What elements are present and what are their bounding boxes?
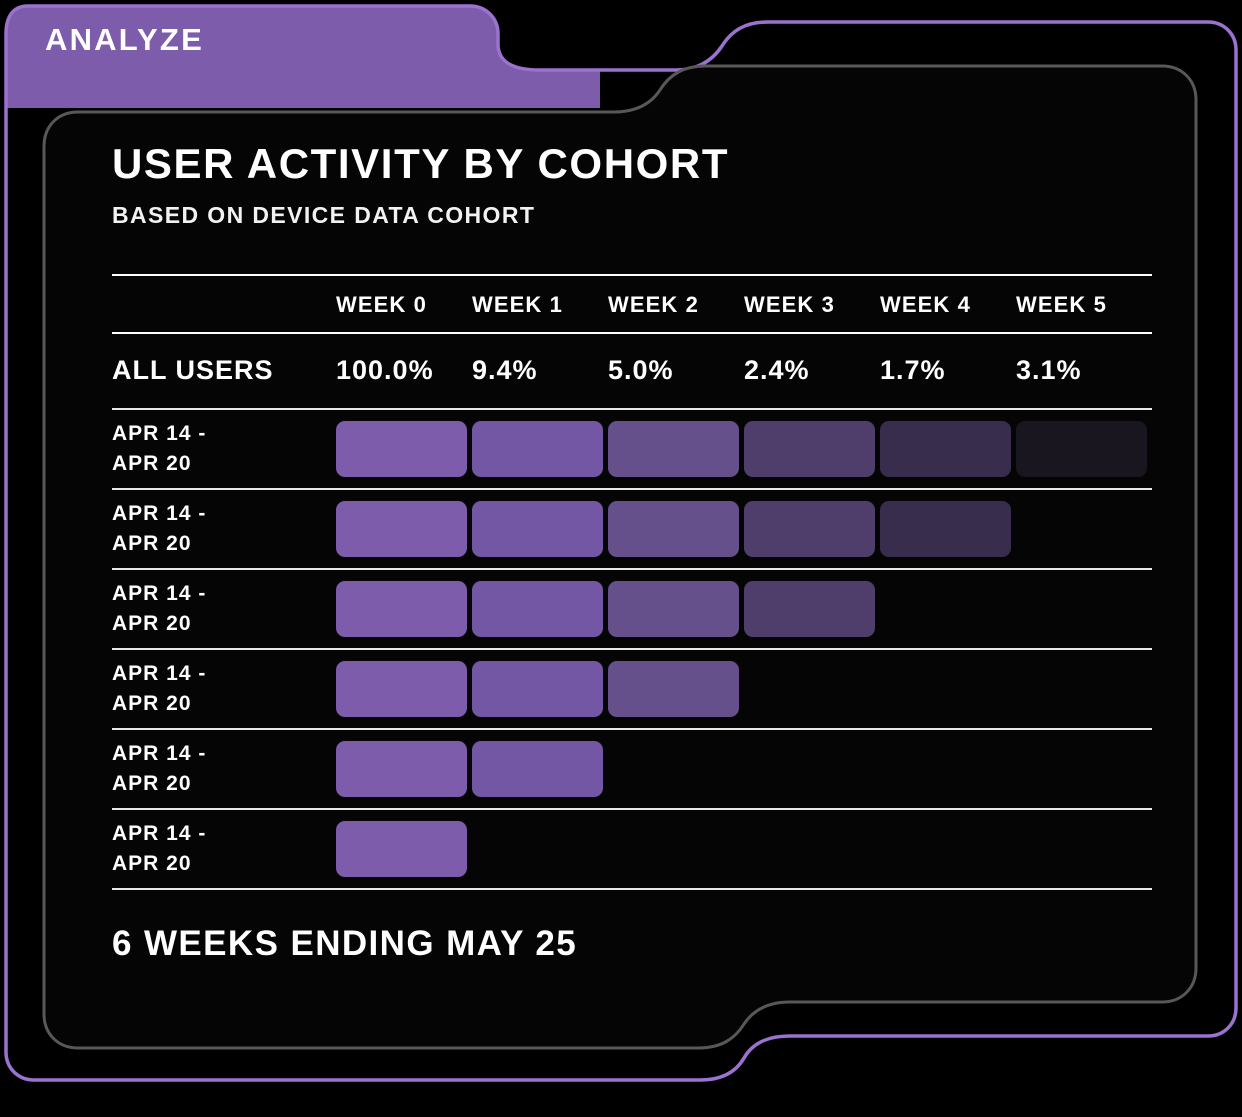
cohort-label-line-1: APR 14 -: [112, 662, 206, 685]
cohort-row-label: APR 14 - APR 20: [112, 729, 336, 809]
cohort-cell[interactable]: [336, 809, 472, 889]
cohort-retention-table: WEEK 0 WEEK 1 WEEK 2 WEEK 3 WEEK 4 WEEK …: [112, 274, 1152, 890]
cohort-cell[interactable]: [472, 649, 608, 729]
cohort-cell[interactable]: [880, 489, 1016, 569]
cohort-cell: [744, 809, 880, 889]
cohort-cell: [608, 809, 744, 889]
cohort-cell[interactable]: [472, 489, 608, 569]
table-row[interactable]: APR 14 - APR 20: [112, 729, 1152, 809]
summary-value-week-2: 5.0%: [608, 333, 744, 409]
cohort-row-label: APR 14 - APR 20: [112, 649, 336, 729]
cohort-cell[interactable]: [608, 489, 744, 569]
column-header-week-2[interactable]: WEEK 2: [608, 275, 744, 333]
summary-value-week-0: 100.0%: [336, 333, 472, 409]
cohort-cell: [1016, 569, 1152, 649]
table-footer-note: 6 WEEKS ENDING MAY 25: [112, 924, 1152, 964]
cohort-cell: [1016, 649, 1152, 729]
summary-value-week-4: 1.7%: [880, 333, 1016, 409]
table-corner-header: [112, 275, 336, 333]
cohort-cell: [744, 649, 880, 729]
column-header-week-4[interactable]: WEEK 4: [880, 275, 1016, 333]
cohort-cell: [880, 809, 1016, 889]
cohort-label-line-2: APR 20: [112, 532, 192, 555]
cohort-cell: [1016, 809, 1152, 889]
cohort-cell: [472, 809, 608, 889]
table-row[interactable]: APR 14 - APR 20: [112, 409, 1152, 489]
cohort-label-line-2: APR 20: [112, 452, 192, 475]
column-header-week-1[interactable]: WEEK 1: [472, 275, 608, 333]
cohort-cell[interactable]: [880, 409, 1016, 489]
cohort-cell[interactable]: [608, 569, 744, 649]
panel-content: USER ACTIVITY BY COHORT BASED ON DEVICE …: [112, 143, 1152, 964]
cohort-label-line-1: APR 14 -: [112, 422, 206, 445]
cohort-cell: [744, 729, 880, 809]
cohort-cell[interactable]: [336, 649, 472, 729]
cohort-cell: [1016, 489, 1152, 569]
cohort-row-label: APR 14 - APR 20: [112, 409, 336, 489]
tab-label-analyze[interactable]: ANALYZE: [45, 22, 204, 58]
cohort-cell: [608, 729, 744, 809]
summary-value-week-3: 2.4%: [744, 333, 880, 409]
table-row[interactable]: APR 14 - APR 20: [112, 489, 1152, 569]
table-header-row: WEEK 0 WEEK 1 WEEK 2 WEEK 3 WEEK 4 WEEK …: [112, 275, 1152, 333]
cohort-cell[interactable]: [472, 409, 608, 489]
summary-row-label: ALL USERS: [112, 333, 336, 409]
cohort-cell[interactable]: [1016, 409, 1152, 489]
table-body: ALL USERS 100.0% 9.4% 5.0% 2.4% 1.7% 3.1…: [112, 333, 1152, 889]
cohort-cell[interactable]: [336, 409, 472, 489]
cohort-row-label: APR 14 - APR 20: [112, 489, 336, 569]
summary-value-week-1: 9.4%: [472, 333, 608, 409]
cohort-label-line-1: APR 14 -: [112, 582, 206, 605]
cohort-cell: [880, 569, 1016, 649]
cohort-label-line-2: APR 20: [112, 772, 192, 795]
column-header-week-0[interactable]: WEEK 0: [336, 275, 472, 333]
cohort-label-line-2: APR 20: [112, 852, 192, 875]
cohort-cell[interactable]: [608, 649, 744, 729]
cohort-row-label: APR 14 - APR 20: [112, 809, 336, 889]
cohort-cell: [1016, 729, 1152, 809]
cohort-label-line-1: APR 14 -: [112, 742, 206, 765]
analyze-cohort-screen: ANALYZE USER ACTIVITY BY COHORT BASED ON…: [0, 0, 1242, 1117]
cohort-cell[interactable]: [608, 409, 744, 489]
table-row[interactable]: APR 14 - APR 20: [112, 569, 1152, 649]
cohort-cell: [880, 649, 1016, 729]
page-subtitle: BASED ON DEVICE DATA COHORT: [112, 202, 1152, 229]
cohort-cell[interactable]: [336, 729, 472, 809]
cohort-row-label: APR 14 - APR 20: [112, 569, 336, 649]
cohort-label-line-1: APR 14 -: [112, 822, 206, 845]
cohort-label-line-2: APR 20: [112, 692, 192, 715]
cohort-cell[interactable]: [472, 569, 608, 649]
cohort-cell[interactable]: [744, 569, 880, 649]
cohort-label-line-1: APR 14 -: [112, 502, 206, 525]
table-header: WEEK 0 WEEK 1 WEEK 2 WEEK 3 WEEK 4 WEEK …: [112, 275, 1152, 333]
page-title: USER ACTIVITY BY COHORT: [112, 143, 1152, 185]
cohort-cell[interactable]: [744, 409, 880, 489]
cohort-label-line-2: APR 20: [112, 612, 192, 635]
column-header-week-5[interactable]: WEEK 5: [1016, 275, 1152, 333]
summary-value-week-5: 3.1%: [1016, 333, 1152, 409]
cohort-cell[interactable]: [472, 729, 608, 809]
cohort-cell[interactable]: [336, 569, 472, 649]
cohort-cell: [880, 729, 1016, 809]
cohort-cell[interactable]: [336, 489, 472, 569]
table-row[interactable]: APR 14 - APR 20: [112, 649, 1152, 729]
cohort-cell[interactable]: [744, 489, 880, 569]
column-header-week-3[interactable]: WEEK 3: [744, 275, 880, 333]
table-row[interactable]: APR 14 - APR 20: [112, 809, 1152, 889]
summary-row-all-users: ALL USERS 100.0% 9.4% 5.0% 2.4% 1.7% 3.1…: [112, 333, 1152, 409]
